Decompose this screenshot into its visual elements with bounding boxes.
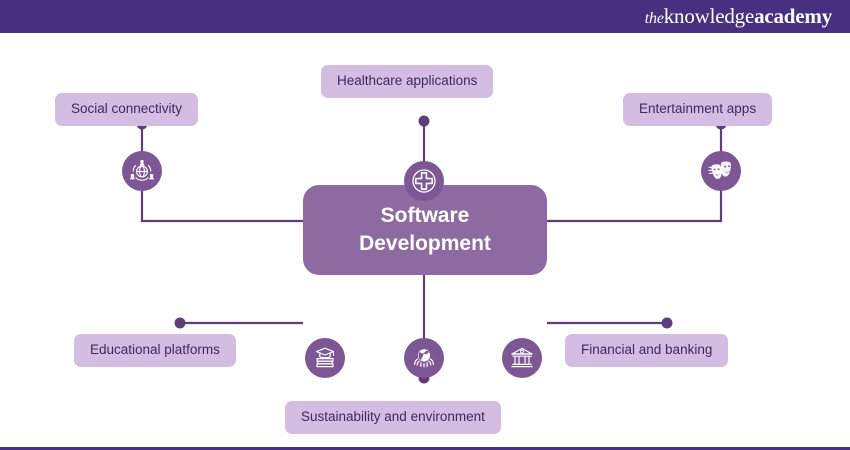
label-social-connectivity[interactable]: Social connectivity bbox=[55, 93, 198, 126]
label-healthcare-applications[interactable]: Healthcare applications bbox=[321, 65, 493, 98]
logo-word-the: the bbox=[645, 10, 664, 27]
label-financial-banking[interactable]: Financial and banking bbox=[565, 334, 728, 367]
endpoint-dot-education bbox=[175, 318, 186, 329]
globe-network-icon bbox=[129, 158, 155, 184]
center-node-line-1: Software bbox=[381, 202, 470, 230]
icon-node-entertainment-apps[interactable] bbox=[701, 151, 741, 191]
label-sustainability-environment[interactable]: Sustainability and environment bbox=[285, 401, 501, 434]
icon-node-sustainability-environment[interactable] bbox=[404, 338, 444, 378]
hands-holding-globe-icon bbox=[411, 345, 437, 371]
brand-logo: theknowledgeacademy bbox=[645, 6, 832, 27]
connector-entertainment bbox=[547, 124, 721, 221]
books-graduation-cap-icon bbox=[312, 345, 338, 371]
icon-node-social-connectivity[interactable] bbox=[122, 151, 162, 191]
medical-cross-icon bbox=[411, 168, 437, 194]
screenshot-root: theknowledgeacademy bbox=[0, 0, 850, 450]
endpoint-dot-financial bbox=[662, 318, 673, 329]
label-entertainment-apps[interactable]: Entertainment apps bbox=[623, 93, 772, 126]
icon-node-financial-banking[interactable] bbox=[502, 338, 542, 378]
center-node-line-2: Development bbox=[359, 230, 491, 258]
endpoint-dot-healthcare bbox=[419, 116, 430, 127]
label-educational-platforms[interactable]: Educational platforms bbox=[74, 334, 236, 367]
connector-social bbox=[142, 124, 303, 221]
theater-masks-icon bbox=[708, 158, 735, 184]
logo-word-knowledge: knowledge bbox=[664, 4, 754, 28]
bank-building-icon bbox=[509, 345, 535, 371]
icon-node-educational-platforms[interactable] bbox=[305, 338, 345, 378]
icon-node-healthcare-applications[interactable] bbox=[404, 161, 444, 201]
diagram-canvas: Software Development bbox=[0, 33, 850, 450]
page-header: theknowledgeacademy bbox=[0, 0, 850, 33]
logo-word-academy: academy bbox=[754, 4, 832, 28]
